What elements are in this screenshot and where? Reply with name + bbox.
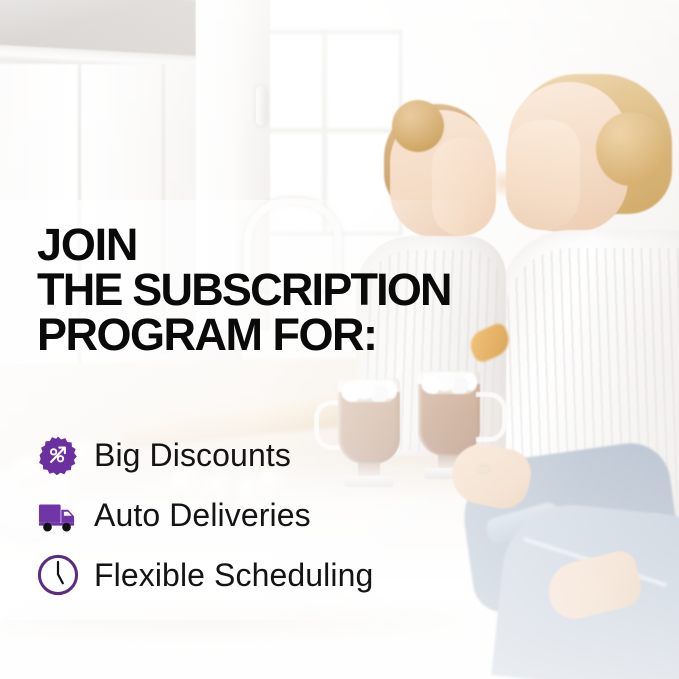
- delivery-truck-icon: [36, 493, 80, 537]
- list-item-flexible-scheduling: Flexible Scheduling: [36, 545, 373, 605]
- page-title: JOIN THE SUBSCRIPTION PROGRAM FOR:: [37, 222, 451, 357]
- promo-content: JOIN THE SUBSCRIPTION PROGRAM FOR: Big D…: [0, 0, 679, 679]
- benefit-label: Auto Deliveries: [94, 497, 311, 534]
- headline-line-1: JOIN: [37, 222, 451, 267]
- promo-card: JOIN THE SUBSCRIPTION PROGRAM FOR: Big D…: [0, 0, 679, 679]
- list-item-auto-deliveries: Auto Deliveries: [36, 485, 373, 545]
- clock-icon: [36, 553, 80, 597]
- headline-line-3: PROGRAM FOR:: [37, 312, 451, 357]
- discount-badge-icon: [36, 433, 80, 477]
- benefit-label: Big Discounts: [94, 437, 291, 474]
- benefit-label: Flexible Scheduling: [94, 557, 373, 594]
- benefits-list: Big Discounts Auto Deliveries: [36, 425, 373, 605]
- headline-line-2: THE SUBSCRIPTION: [37, 267, 451, 312]
- list-item-big-discounts: Big Discounts: [36, 425, 373, 485]
